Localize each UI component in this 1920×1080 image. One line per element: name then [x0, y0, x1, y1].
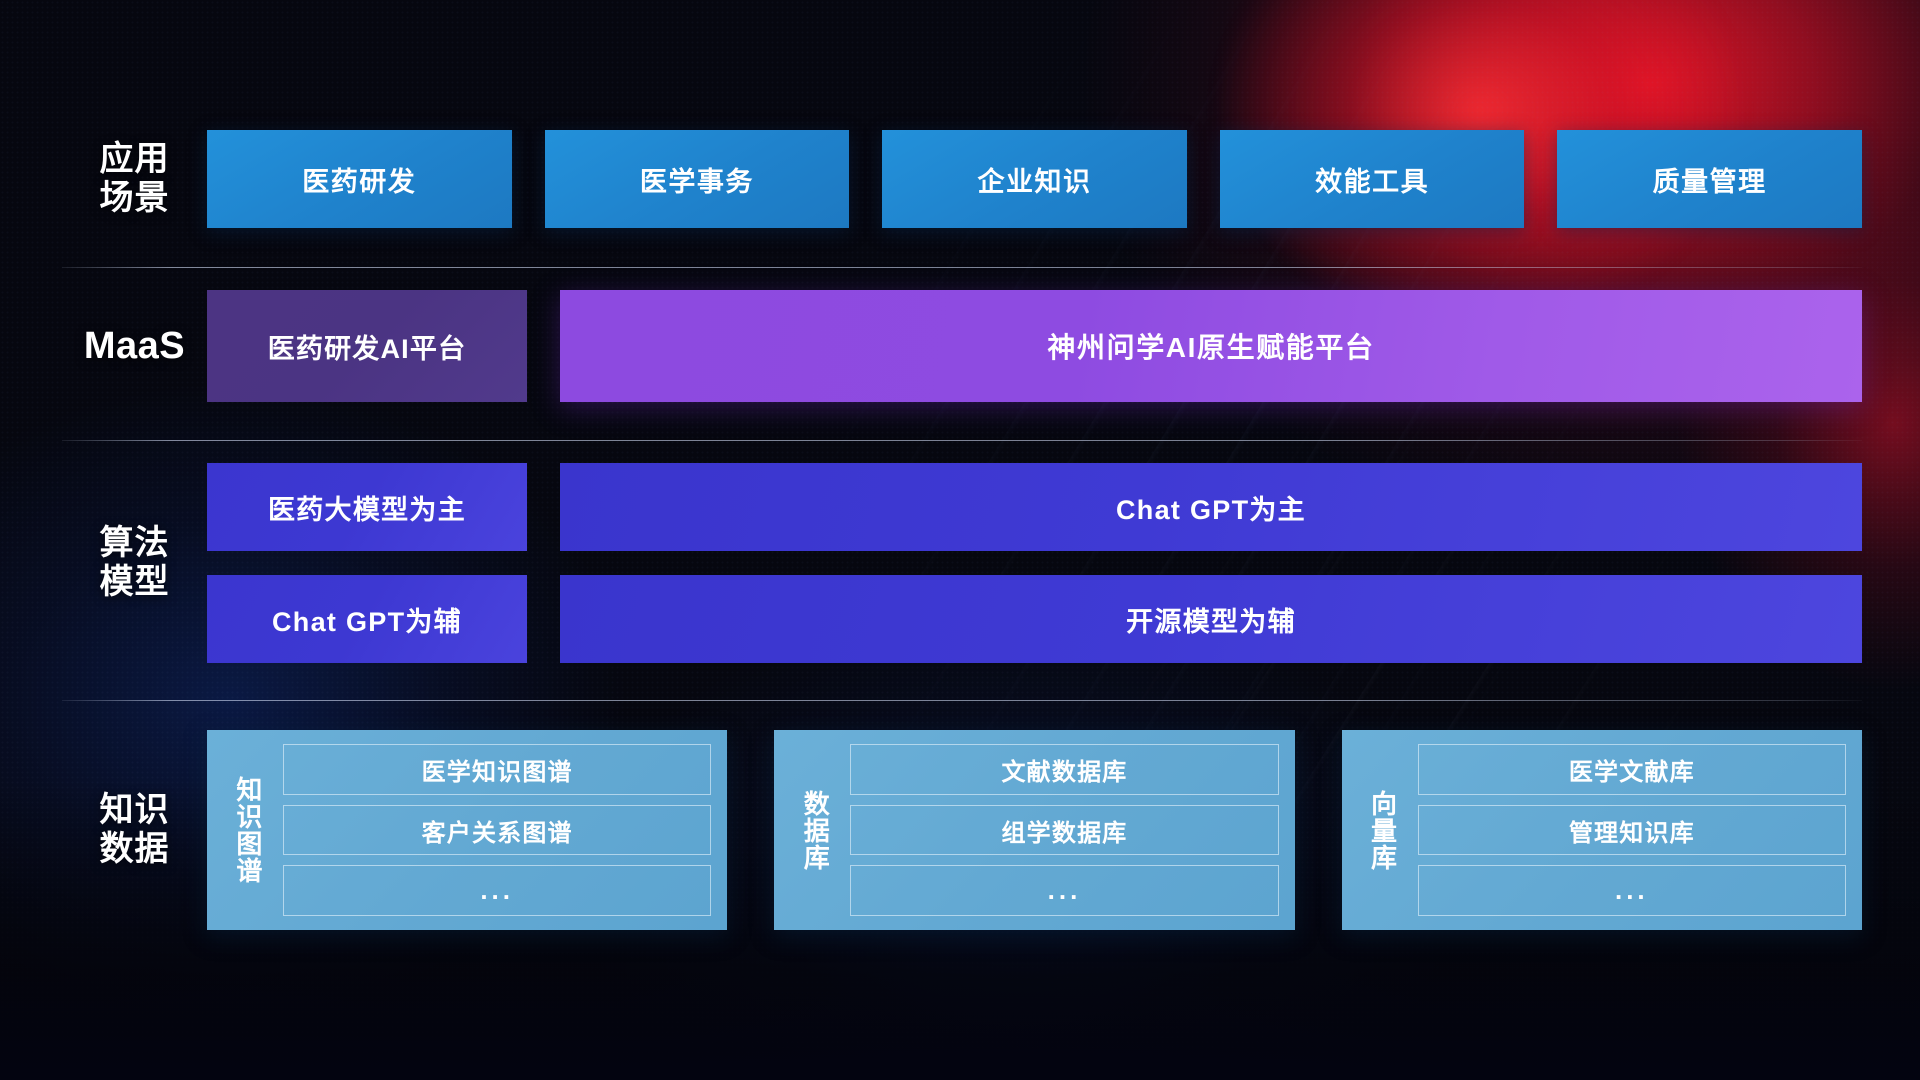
knowledge-group-database-label: 数据库 — [786, 744, 842, 916]
divider-maas-algorithms — [62, 440, 1862, 441]
knowledge-chip-management-knowledge[interactable]: 管理知识库 — [1418, 805, 1846, 856]
knowledge-chip-literature-db[interactable]: 文献数据库 — [850, 744, 1278, 795]
knowledge-chip-customer-graph[interactable]: 客户关系图谱 — [283, 805, 711, 856]
architecture-diagram: 应用 场景 医药研发 医学事务 企业知识 效能工具 质量管理 MaaS 医药研发… — [0, 0, 1920, 1080]
tier-applications-label: 应用 场景 — [62, 140, 207, 219]
knowledge-chip-medical-graph[interactable]: 医学知识图谱 — [283, 744, 711, 795]
knowledge-group-vector-label: 向量库 — [1354, 744, 1410, 916]
app-box-qiyezhishi[interactable]: 企业知识 — [882, 130, 1187, 228]
app-box-xiaonenggongju[interactable]: 效能工具 — [1220, 130, 1525, 228]
knowledge-chip-graph-more[interactable]: ... — [283, 865, 711, 916]
knowledge-group-graph[interactable]: 知识图谱 医学知识图谱 客户关系图谱 ... — [207, 730, 727, 930]
algo-box-opensource-secondary[interactable]: 开源模型为辅 — [560, 575, 1862, 663]
tier-maas-label: MaaS — [62, 324, 207, 368]
algo-box-medical-large-model-primary[interactable]: 医药大模型为主 — [207, 463, 527, 551]
knowledge-group-vector-chips: 医学文献库 管理知识库 ... — [1410, 744, 1846, 916]
tier-knowledge-groups: 知识图谱 医学知识图谱 客户关系图谱 ... 数据库 文献数据库 组学数据库 .… — [207, 730, 1862, 930]
knowledge-chip-medical-literature[interactable]: 医学文献库 — [1418, 744, 1846, 795]
knowledge-chip-vector-more[interactable]: ... — [1418, 865, 1846, 916]
algorithm-row-primary: 医药大模型为主 Chat GPT为主 — [207, 463, 1862, 551]
divider-algorithms-knowledge — [62, 700, 1862, 701]
app-box-yixueshiwu[interactable]: 医学事务 — [545, 130, 850, 228]
app-box-yiyaoyanfa[interactable]: 医药研发 — [207, 130, 512, 228]
knowledge-chip-omics-db[interactable]: 组学数据库 — [850, 805, 1278, 856]
tier-algorithms: 算法 模型 医药大模型为主 Chat GPT为主 Chat GPT为辅 开源模型… — [62, 463, 1862, 663]
tier-knowledge: 知识 数据 知识图谱 医学知识图谱 客户关系图谱 ... 数据库 文献数据库 — [62, 730, 1862, 930]
tier-algorithms-label: 算法 模型 — [62, 524, 207, 603]
divider-applications-maas — [62, 267, 1862, 268]
maas-box-shenzhouwenxue-platform[interactable]: 神州问学AI原生赋能平台 — [560, 290, 1862, 402]
knowledge-group-graph-label: 知识图谱 — [219, 744, 275, 916]
knowledge-group-vector[interactable]: 向量库 医学文献库 管理知识库 ... — [1342, 730, 1862, 930]
tier-maas: MaaS 医药研发AI平台 神州问学AI原生赋能平台 — [62, 290, 1862, 402]
app-box-zhiliangguanli[interactable]: 质量管理 — [1557, 130, 1862, 228]
algo-box-chatgpt-primary[interactable]: Chat GPT为主 — [560, 463, 1862, 551]
knowledge-group-database-chips: 文献数据库 组学数据库 ... — [842, 744, 1278, 916]
tier-applications: 应用 场景 医药研发 医学事务 企业知识 效能工具 质量管理 — [62, 130, 1862, 228]
tier-algorithms-rows: 医药大模型为主 Chat GPT为主 Chat GPT为辅 开源模型为辅 — [207, 463, 1862, 663]
tier-maas-boxes: 医药研发AI平台 神州问学AI原生赋能平台 — [207, 290, 1862, 402]
knowledge-group-graph-chips: 医学知识图谱 客户关系图谱 ... — [275, 744, 711, 916]
maas-box-yiyaoyanfa-ai-platform[interactable]: 医药研发AI平台 — [207, 290, 527, 402]
algo-box-chatgpt-secondary[interactable]: Chat GPT为辅 — [207, 575, 527, 663]
knowledge-group-database[interactable]: 数据库 文献数据库 组学数据库 ... — [774, 730, 1294, 930]
algorithm-row-secondary: Chat GPT为辅 开源模型为辅 — [207, 575, 1862, 663]
tier-knowledge-label: 知识 数据 — [62, 791, 207, 870]
knowledge-chip-database-more[interactable]: ... — [850, 865, 1278, 916]
tier-applications-boxes: 医药研发 医学事务 企业知识 效能工具 质量管理 — [207, 130, 1862, 228]
